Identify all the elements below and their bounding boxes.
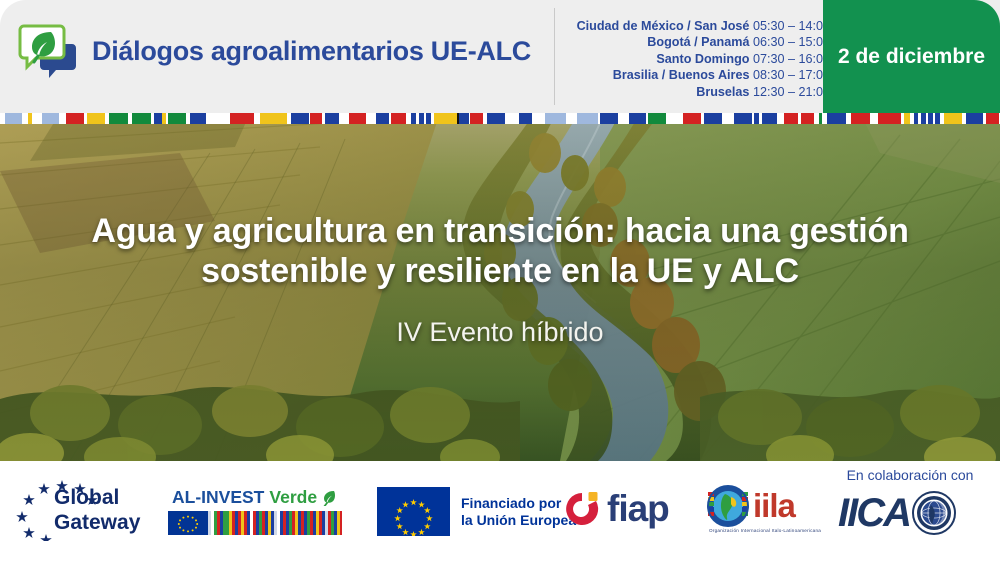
- leaf-icon: [322, 489, 337, 506]
- flag-strip-cell: [87, 113, 105, 124]
- iica-seal-icon: [912, 491, 956, 535]
- schedule-place: Bogotá / Panamá: [647, 35, 749, 49]
- iila-globe-icon: [707, 485, 749, 527]
- fiap-wordmark: fiap: [607, 490, 669, 528]
- flag-strip-cell: [734, 113, 752, 124]
- flag-strip-cell: [206, 113, 230, 124]
- global-gateway-line-1: Global: [54, 485, 140, 510]
- flag-strip-cell: [5, 113, 23, 124]
- al-invest-flag-bars: [168, 511, 342, 535]
- schedule-row: Bruselas 12:30 – 21:00: [560, 84, 830, 100]
- date-badge: 2 de diciembre: [823, 0, 1000, 113]
- schedule-time: 06:30 – 15:00: [753, 35, 830, 49]
- header-divider: [554, 8, 555, 105]
- flag-strip-cell: [704, 113, 722, 124]
- schedule-row: Ciudad de México / San José 05:30 – 14:0…: [560, 18, 830, 34]
- global-gateway-wordmark: Global Gateway: [54, 485, 140, 535]
- eu-flag-icon: [168, 511, 208, 535]
- al-invest-word-1: AL-INVEST: [172, 487, 264, 507]
- flag-strip-cell: [777, 113, 784, 124]
- flag-strip-cell: [762, 113, 776, 124]
- al-invest-wordmark: AL-INVEST Verde: [172, 487, 346, 507]
- date-badge-label: 2 de diciembre: [838, 45, 985, 69]
- schedule-row: Brasilia / Buenos Aires 08:30 – 17:00: [560, 67, 830, 83]
- brand-block: Diálogos agroalimentarios UE-ALC: [18, 22, 531, 80]
- flag-strip-cell: [851, 113, 870, 124]
- flag-strip-cell: [32, 113, 42, 124]
- flag-strip-cell: [260, 113, 287, 124]
- flag-strip-cell: [801, 113, 814, 124]
- flag-strip-cell: [376, 113, 389, 124]
- schedule-time: 08:30 – 17:00: [753, 68, 830, 82]
- fiap-logo: fiap: [562, 489, 669, 529]
- flag-strip-cell: [870, 113, 878, 124]
- global-gateway-logo: Global Gateway: [14, 479, 164, 541]
- country-flag-bars-icon: [208, 511, 342, 535]
- flag-strip-cell: [434, 113, 456, 124]
- flag-strip-cell: [59, 113, 66, 124]
- poster-header: Diálogos agroalimentarios UE-ALC Ciudad …: [0, 0, 1000, 113]
- poster-footer: Global Gateway AL-INVEST Verde: [0, 461, 1000, 562]
- flag-strip-cell: [459, 113, 469, 124]
- flag-strip-cell: [339, 113, 349, 124]
- flag-strip-cell: [666, 113, 684, 124]
- flag-strip-cell: [366, 113, 376, 124]
- schedule-row: Santo Domingo 07:30 – 16:00: [560, 51, 830, 67]
- flag-strip-cell: [986, 113, 999, 124]
- flag-strip-cell: [109, 113, 128, 124]
- al-invest-verde-logo: AL-INVEST Verde: [168, 487, 346, 537]
- flag-strip-cell: [648, 113, 666, 124]
- header-inner: Diálogos agroalimentarios UE-ALC Ciudad …: [0, 0, 1000, 113]
- flag-strip-cell: [878, 113, 900, 124]
- hero-title: Agua y agricultura en transición: hacia …: [40, 211, 960, 291]
- eu-funded-wordmark: Financiado por la Unión Europea: [461, 495, 576, 529]
- leaf-speech-bubble-icon: [18, 22, 80, 80]
- flag-strip-cell: [784, 113, 798, 124]
- schedule-place: Santo Domingo: [656, 52, 749, 66]
- flag-strip-cell: [505, 113, 519, 124]
- flag-strip-cell: [391, 113, 405, 124]
- al-invest-word-2: Verde: [269, 487, 317, 507]
- iica-logo: IICA: [838, 491, 956, 535]
- flag-strip-decoration: [0, 113, 1000, 124]
- flag-strip-cell: [600, 113, 618, 124]
- flag-strip-cell: [722, 113, 735, 124]
- flag-strip-cell: [42, 113, 60, 124]
- hero-subtitle: IV Evento híbrido: [396, 316, 603, 348]
- flag-strip-cell: [827, 113, 846, 124]
- global-gateway-line-2: Gateway: [54, 510, 140, 535]
- schedule-place: Bruselas: [696, 85, 749, 99]
- flag-strip-cell: [310, 113, 321, 124]
- flag-strip-cell: [545, 113, 566, 124]
- flag-strip-cell: [230, 113, 254, 124]
- flag-strip-cell: [132, 113, 151, 124]
- eu-funded-line-2: la Unión Europea: [461, 512, 576, 529]
- event-poster: Diálogos agroalimentarios UE-ALC Ciudad …: [0, 0, 1000, 562]
- flag-strip-cell: [190, 113, 206, 124]
- flag-strip-cell: [349, 113, 367, 124]
- flag-strip-cell: [532, 113, 545, 124]
- flag-strip-cell: [618, 113, 629, 124]
- flag-strip-cell: [168, 113, 186, 124]
- schedule-place: Ciudad de México / San José: [577, 19, 750, 33]
- eu-flag-icon: [377, 487, 450, 536]
- hero-text-block: Agua y agricultura en transición: hacia …: [0, 113, 1000, 461]
- iila-row: iila: [707, 485, 827, 527]
- flag-strip-cell: [577, 113, 598, 124]
- schedule-list: Ciudad de México / San José 05:30 – 14:0…: [560, 18, 830, 100]
- fiap-circle-icon: [562, 489, 602, 529]
- flag-strip-cell: [487, 113, 505, 124]
- iica-wordmark: IICA: [838, 492, 910, 534]
- collaboration-label: En colaboración con: [830, 467, 990, 484]
- flag-strip-cell: [291, 113, 309, 124]
- iila-subtitle: Organización Internacional Italo-Latinoa…: [709, 528, 827, 534]
- flag-strip-cell: [629, 113, 647, 124]
- iila-logo: iila Organización Internacional Italo-La…: [707, 485, 827, 541]
- flag-strip-cell: [566, 113, 577, 124]
- flag-strip-cell: [966, 113, 984, 124]
- flag-strip-cell: [154, 113, 162, 124]
- eu-funded-line-1: Financiado por: [461, 495, 576, 512]
- flag-strip-cell: [944, 113, 962, 124]
- schedule-time: 12:30 – 21:00: [753, 85, 830, 99]
- flag-strip-cell: [470, 113, 483, 124]
- hero-section: Agua y agricultura en transición: hacia …: [0, 113, 1000, 461]
- flag-strip-cell: [66, 113, 84, 124]
- schedule-place: Brasilia / Buenos Aires: [613, 68, 750, 82]
- eu-funded-logo: Financiado por la Unión Europea: [377, 487, 576, 536]
- flag-strip-cell: [519, 113, 532, 124]
- flag-strip-cell: [683, 113, 701, 124]
- schedule-row: Bogotá / Panamá 06:30 – 15:00: [560, 34, 830, 50]
- flag-strip-cell: [325, 113, 339, 124]
- schedule-time: 05:30 – 14:00: [753, 19, 830, 33]
- schedule-time: 07:30 – 16:00: [753, 52, 830, 66]
- iila-wordmark: iila: [753, 489, 795, 523]
- page-title: Diálogos agroalimentarios UE-ALC: [92, 36, 531, 67]
- logo-row: Global Gateway AL-INVEST Verde: [0, 461, 1000, 562]
